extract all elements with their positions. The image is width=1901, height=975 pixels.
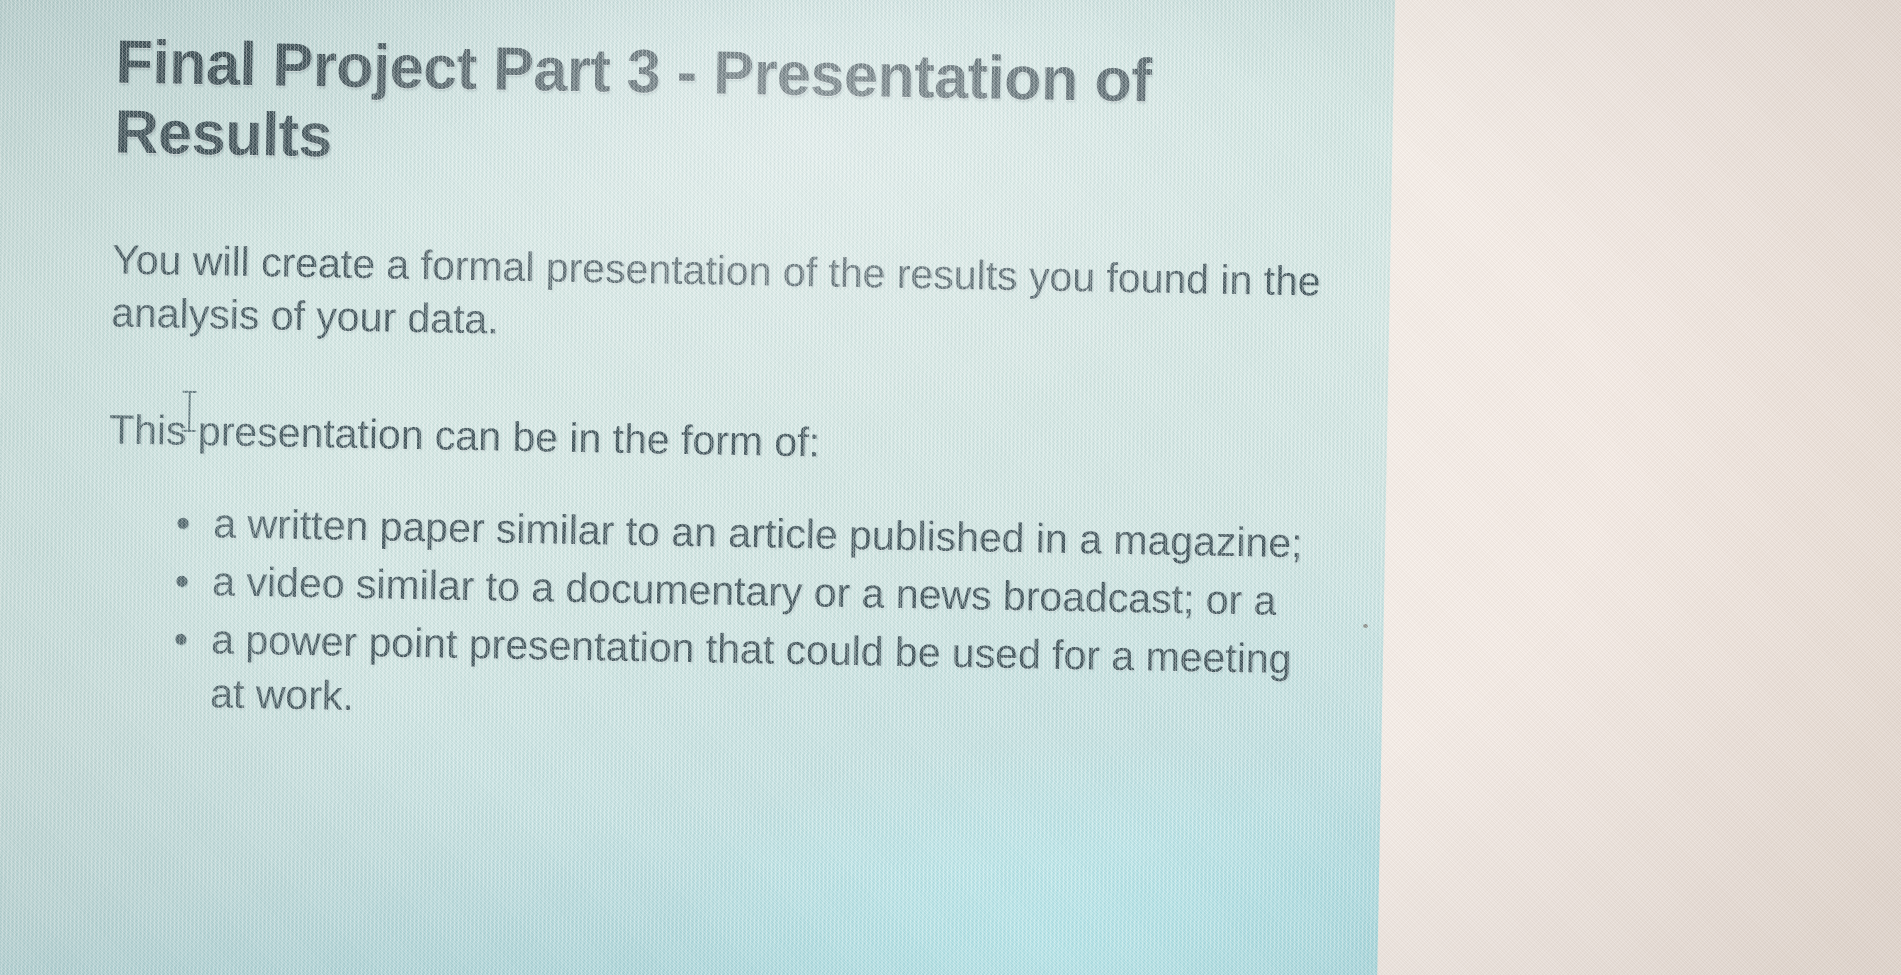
- form-lead-paragraph: This presentation can be in the form of:: [109, 403, 1325, 479]
- form-options-list: a written paper similar to an article pu…: [104, 494, 1323, 741]
- intro-paragraph: You will create a formal presentation of…: [111, 233, 1328, 362]
- bullet-icon: [176, 576, 187, 587]
- document-content: Final Project Part 3 - Presentation of R…: [104, 27, 1332, 745]
- page-title: Final Project Part 3 - Presentation of R…: [114, 27, 1331, 188]
- bullet-icon: [175, 634, 186, 645]
- list-item-label: a power point presentation that could be…: [210, 616, 1292, 719]
- dust-speck: [1363, 624, 1368, 628]
- list-item-label: a video similar to a documentary or a ne…: [212, 558, 1277, 623]
- photographed-screen-scene: Final Project Part 3 - Presentation of R…: [0, 0, 1901, 975]
- text-cursor-icon: [181, 388, 198, 434]
- list-item-label: a written paper similar to an article pu…: [213, 500, 1303, 566]
- form-lead-text: This presentation can be in the form of:: [109, 406, 821, 465]
- monitor-screen: Final Project Part 3 - Presentation of R…: [0, 0, 1396, 975]
- bullet-icon: [177, 518, 188, 529]
- list-item: a power point presentation that could be…: [170, 612, 1321, 741]
